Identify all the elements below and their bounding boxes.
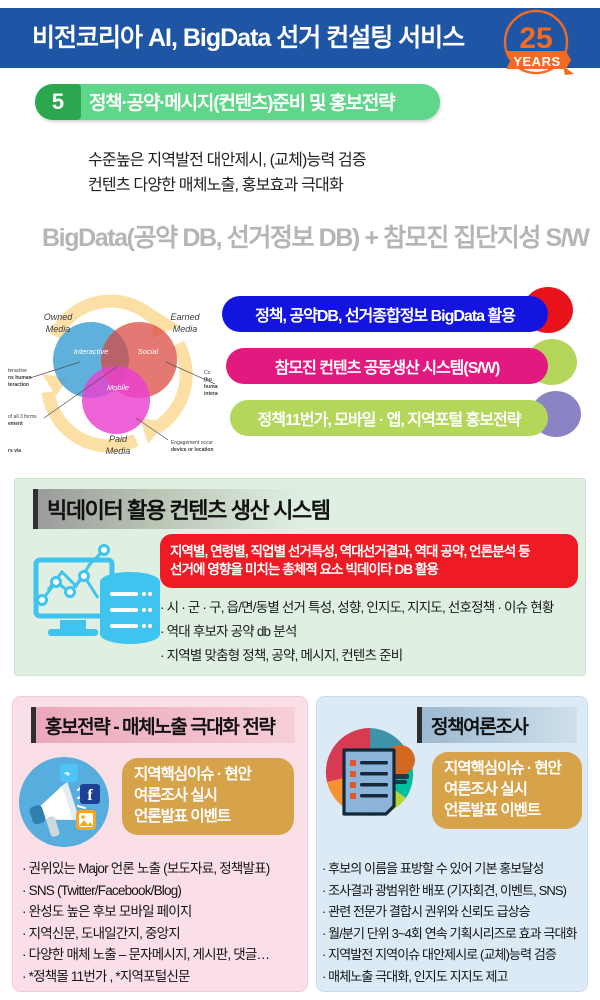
infographic-page: 비전코리아 AI, BigData 선거 컨설팅 서비스 25 YEARS 5 … <box>0 0 600 1000</box>
venn-label-earned-1: Earned <box>170 312 200 322</box>
bigdata-callout-line-1: 지역별, 연령별, 직업별 선거특성, 역대선거결과, 역대 공약, 언론분석 … <box>170 543 568 561</box>
venn-note-left-5: ement <box>8 421 23 427</box>
survey-bullet-list: · 후보의 이름을 표방할 수 있어 기본 홍보달성 · 조사결과 광범위한 배… <box>322 858 590 987</box>
venn-note-left-2: ns human <box>8 375 32 381</box>
gold-badge-line-3: 언론발표 이벤트 <box>134 806 284 827</box>
list-item: · 지역발전 지역이슈 대안제시로 (교체)능력 검증 <box>322 944 590 966</box>
svg-text:f: f <box>87 787 93 804</box>
venn-label-paid-1: Paid <box>109 434 128 444</box>
venn-label-mobile: Mobile <box>107 383 129 392</box>
survey-gold-badge: 지역핵심이슈 · 현안 여론조사 실시 언론발표 이벤트 <box>432 752 582 829</box>
venn-circle-mobile <box>82 366 150 434</box>
media-venn-diagram: Interactive Social Mobile Owned Media Ea… <box>8 282 218 462</box>
intro-block: 수준높은 지역발전 대안제시, (교체)능력 검증 컨텐츠 다양한 매체노출, … <box>88 148 366 198</box>
section-label: 정책·공약·메시지(컨텐츠)준비 및 홍보전략 <box>89 88 394 115</box>
list-item: · 후보의 이름을 표방할 수 있어 기본 홍보달성 <box>322 858 590 880</box>
badge-number-text: 25 <box>519 22 552 55</box>
promotion-bullet-list: · 권위있는 Major 언론 노출 (보도자료, 정책발표) · SNS (T… <box>22 858 304 987</box>
venn-note-left-1: teractive <box>8 368 27 374</box>
bigdata-panel-header: 빅데이터 활용 컨텐츠 생산 시스템 <box>33 489 303 529</box>
database-analytics-icon <box>32 538 164 652</box>
venn-note-right-4: interactions <box>204 391 218 397</box>
list-item: · 조사결과 광범위한 배포 (기자회견, 이벤트, SNS) <box>322 880 590 902</box>
intro-line-2: 컨텐츠 다양한 매체노출, 홍보효과 극대화 <box>88 173 366 198</box>
anniversary-badge: 25 YEARS <box>497 4 575 82</box>
list-item: · 월/분기 단위 3~4회 연속 기획시리즈로 효과 극대화 <box>322 923 590 945</box>
venn-note-right-3: human) <box>204 384 218 390</box>
venn-note-bottom-3: device or location <box>171 447 214 453</box>
list-item: · 완성도 높은 후보 모바일 페이지 <box>22 901 304 923</box>
banner-promotion: 정책11번가, 모바일 · 앱, 지역포털 홍보전략 <box>230 400 548 436</box>
gold-badge-line-3: 언론발표 이벤트 <box>444 800 572 821</box>
list-item: · 시 · 군 · 구, 읍/면/동별 선거 특성, 성향, 인지도, 지지도,… <box>160 596 580 620</box>
gold-badge-line-1: 지역핵심이슈 · 현안 <box>134 764 284 785</box>
gold-badge-line-1: 지역핵심이슈 · 현안 <box>444 758 572 779</box>
twitter-icon <box>60 764 78 782</box>
banner-coproduction-label: 참모진 컨텐츠 공동생산 시스템(S/W) <box>275 354 500 378</box>
gold-badge-line-2: 여론조사 실시 <box>134 785 284 806</box>
venn-label-owned-1: Owned <box>44 312 74 322</box>
section-number: 5 <box>35 84 81 120</box>
list-item: · SNS (Twitter/Facebook/Blog) <box>22 880 304 902</box>
venn-note-right-2: (hu <box>204 377 212 383</box>
list-item: · 지역별 맞춤형 정책, 공약, 메시지, 컨텐츠 준비 <box>160 644 580 668</box>
list-item: · 역대 후보자 공약 db 분석 <box>160 620 580 644</box>
list-item: · 지역신문, 도내일간지, 중앙지 <box>22 923 304 945</box>
venn-note-right-1: Co <box>204 370 211 376</box>
survey-panel-header: 정책여론조사 <box>417 707 577 743</box>
promotion-panel-header: 홍보전략 - 매체노출 극대화 전략 <box>31 707 295 743</box>
venn-note-left-3: teraction <box>8 382 29 388</box>
bigdata-callout-line-2: 선거에 영향을 미치는 총체적 요소 빅데이타 DB 활용 <box>170 561 568 579</box>
venn-label-earned-2: Media <box>173 324 198 334</box>
banner-bigdata: 정책, 공약DB, 선거종합정보 BigData 활용 <box>222 296 548 332</box>
banner-bigdata-label: 정책, 공약DB, 선거종합정보 BigData 활용 <box>255 302 515 326</box>
venn-label-interactive: Interactive <box>74 347 109 356</box>
bigdata-callout: 지역별, 연령별, 직업별 선거특성, 역대선거결과, 역대 공약, 언론분석 … <box>160 534 578 588</box>
page-title: 비전코리아 AI, BigData 선거 컨설팅 서비스 <box>32 18 464 54</box>
survey-pie-clipboard-icon <box>322 724 426 828</box>
gold-badge-line-2: 여론조사 실시 <box>444 779 572 800</box>
list-item: · 관련 전문가 결합시 권위와 신뢰도 급상승 <box>322 901 590 923</box>
list-item: · *정책몰 11번가 , *지역포털신문 <box>22 966 304 988</box>
venn-note-bottom-1: rs via <box>8 448 21 454</box>
banner-promotion-label: 정책11번가, 모바일 · 앱, 지역포털 홍보전략 <box>258 406 521 430</box>
venn-note-bottom-2: Engagement occur <box>171 440 213 446</box>
bigdata-bullet-list: · 시 · 군 · 구, 읍/면/동별 선거 특성, 성향, 인지도, 지지도,… <box>160 596 580 668</box>
list-item: · 권위있는 Major 언론 노출 (보도자료, 정책발표) <box>22 858 304 880</box>
promotion-panel-title: 홍보전략 - 매체노출 극대화 전략 <box>31 712 274 739</box>
banner-coproduction: 참모진 컨텐츠 공동생산 시스템(S/W) <box>226 348 548 384</box>
megaphone-icon: f <box>18 756 110 848</box>
badge-years-text: YEARS <box>513 54 560 69</box>
section-pill: 5 정책·공약·메시지(컨텐츠)준비 및 홍보전략 <box>35 84 440 120</box>
list-item: · 매체노출 극대화, 인지도 지지도 제고 <box>322 966 590 988</box>
list-item: · 다양한 매체 노출 – 문자메시지, 게시판, 댓글… <box>22 944 304 966</box>
venn-label-owned-2: Media <box>46 324 71 334</box>
survey-panel-title: 정책여론조사 <box>417 712 527 739</box>
venn-note-left-4: of all 3 forms <box>8 414 37 420</box>
venn-label-paid-2: Media <box>106 446 131 456</box>
promotion-gold-badge: 지역핵심이슈 · 현안 여론조사 실시 언론발표 이벤트 <box>122 758 294 835</box>
bigdata-headline: BigData(공약 DB, 선거정보 DB) + 참모진 집단지성 S/W <box>42 218 589 254</box>
bigdata-panel-title: 빅데이터 활용 컨텐츠 생산 시스템 <box>33 493 330 525</box>
intro-line-1: 수준높은 지역발전 대안제시, (교체)능력 검증 <box>88 148 366 173</box>
venn-label-social: Social <box>138 347 159 356</box>
